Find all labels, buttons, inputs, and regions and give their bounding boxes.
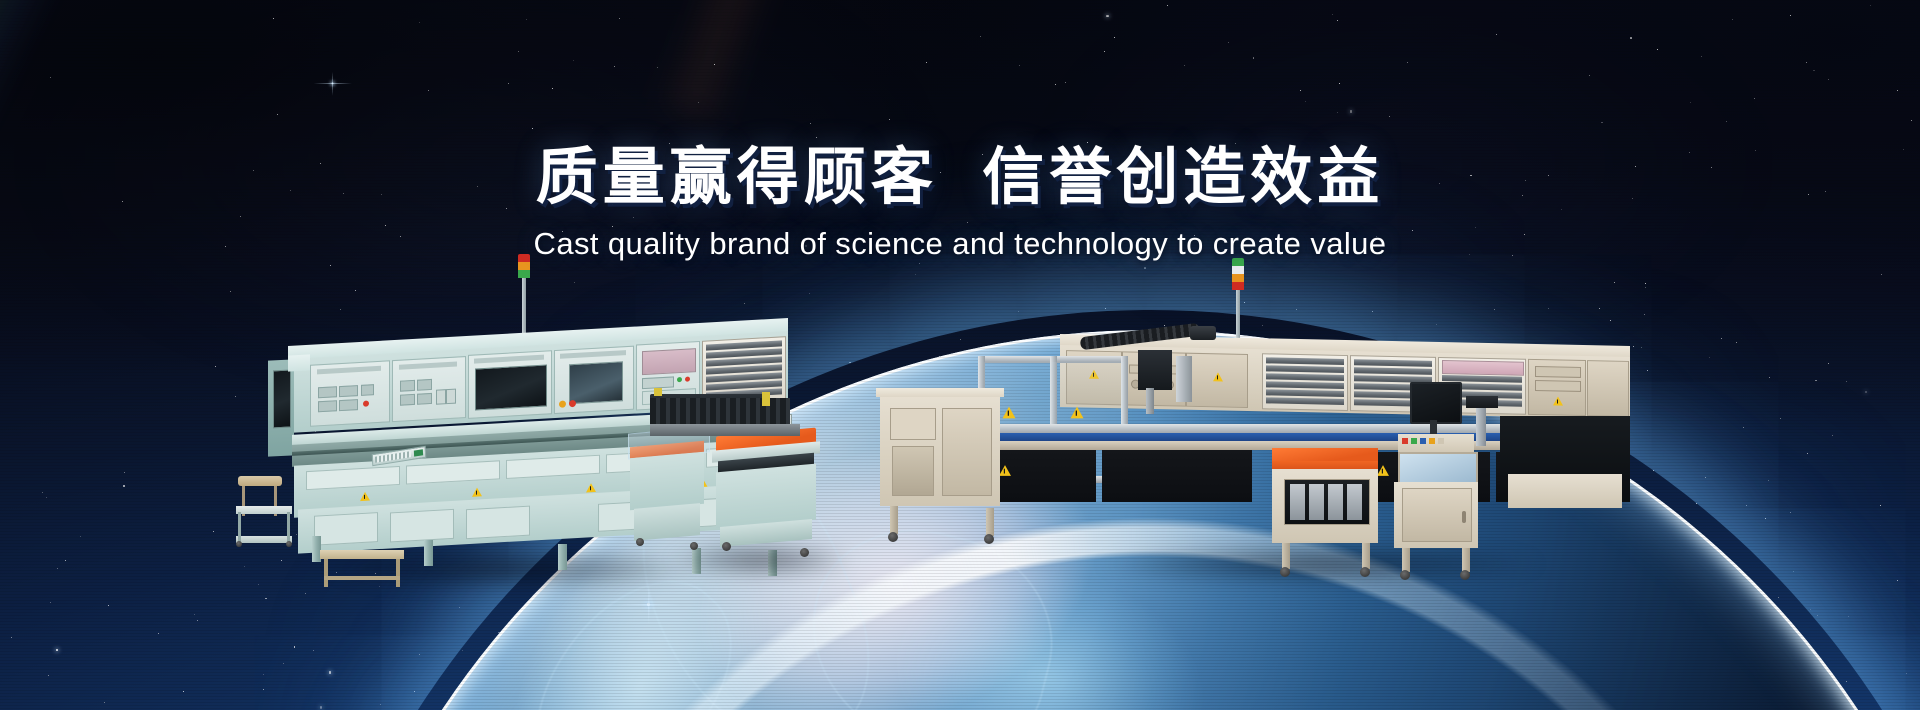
- front-cabinet-door[interactable]: [942, 408, 992, 496]
- rack-slot: [1266, 381, 1344, 389]
- star: [1881, 274, 1882, 275]
- left-display-bay-1: [468, 350, 552, 419]
- right-front-machine-body: [1272, 469, 1378, 543]
- star: [1865, 391, 1867, 393]
- star: [1647, 370, 1648, 371]
- star: [1832, 435, 1833, 436]
- output-cart-2-body: [716, 464, 816, 529]
- front-cabinet-drawer[interactable]: [892, 446, 934, 496]
- display-label-1: [474, 355, 544, 364]
- panel-button-c[interactable]: [361, 384, 374, 396]
- console-caster: [1400, 570, 1410, 580]
- output-cart-1-body: [630, 452, 704, 510]
- cart-caster: [690, 542, 698, 550]
- left-control-panel-1[interactable]: [310, 360, 390, 426]
- star: [108, 605, 109, 606]
- cart-leg: [238, 512, 241, 542]
- star: [1300, 90, 1301, 91]
- machine-leg: [1362, 543, 1370, 569]
- front-cabinet-top: [876, 388, 1004, 397]
- star: [419, 22, 420, 23]
- star: [1813, 70, 1815, 72]
- hmi-led-blue-icon: [1420, 438, 1426, 444]
- star: [273, 18, 274, 19]
- rack-slot: [1354, 359, 1432, 367]
- panel-button-e[interactable]: [339, 399, 358, 411]
- star: [1897, 580, 1898, 581]
- star: [283, 663, 284, 664]
- banner-headline: 质量赢得顾客 信誉创造效益: [0, 146, 1920, 210]
- star: [926, 62, 927, 63]
- star: [1019, 65, 1020, 66]
- star: [1846, 381, 1847, 382]
- cabinet-caster: [984, 534, 994, 544]
- panel-button-b[interactable]: [339, 385, 358, 397]
- panel-switch-b[interactable]: [446, 389, 456, 405]
- star: [1106, 15, 1108, 17]
- right-robot-head: [1466, 396, 1498, 408]
- star: [1780, 418, 1781, 419]
- right-instrument-screen: [1442, 360, 1524, 376]
- panel-button-h[interactable]: [400, 394, 415, 406]
- bench-leg: [396, 559, 400, 587]
- end-bay-readout: [1535, 366, 1581, 378]
- star: [1690, 102, 1691, 103]
- panel-switch-a[interactable]: [436, 389, 446, 405]
- hmi-led-red-icon: [1402, 438, 1408, 444]
- star: [48, 675, 49, 676]
- robot-actuator: [1176, 356, 1192, 402]
- star: [215, 366, 216, 367]
- cabinet-leg: [986, 508, 994, 536]
- panel-button-a[interactable]: [318, 386, 337, 398]
- panel-label-2: [399, 362, 457, 370]
- hmi-led-neutral-icon: [1438, 438, 1444, 444]
- transfer-base-rail: [650, 424, 800, 436]
- right-machine-shadow: [1040, 542, 1600, 586]
- star-flare-top-icon: [332, 83, 334, 85]
- star: [714, 64, 715, 65]
- star: [657, 67, 658, 68]
- star: [123, 485, 125, 487]
- star: [1337, 20, 1338, 21]
- star: [11, 637, 12, 638]
- star: [1870, 5, 1871, 6]
- emergency-stop-icon[interactable]: [363, 400, 369, 406]
- star: [919, 263, 920, 264]
- hmi-console-top: [1398, 434, 1474, 454]
- star: [213, 531, 214, 532]
- hazard-warning-icon: [999, 465, 1011, 476]
- star: [1790, 15, 1791, 16]
- machine-caster: [1280, 567, 1290, 577]
- star: [1828, 79, 1829, 80]
- star: [1880, 505, 1881, 506]
- star: [263, 674, 264, 675]
- left-base-door-3[interactable]: [466, 506, 530, 540]
- star: [980, 36, 981, 37]
- star: [1828, 363, 1829, 364]
- console-caster: [1460, 570, 1470, 580]
- star: [1765, 518, 1767, 520]
- right-signal-tower-red-icon: [1232, 282, 1244, 290]
- cart-caster: [286, 541, 292, 547]
- cart-caster: [236, 541, 242, 547]
- monitor-stand: [1430, 420, 1437, 434]
- rack-slot: [1266, 373, 1344, 381]
- keyboard-indicator-icon: [414, 449, 423, 456]
- right-under-bay-2: [1102, 450, 1252, 502]
- star: [1746, 505, 1747, 506]
- console-leg: [1402, 548, 1410, 572]
- bench-leg: [324, 559, 328, 587]
- star: [1790, 512, 1791, 513]
- star: [263, 689, 264, 690]
- panel-button-d[interactable]: [318, 400, 337, 412]
- star: [1184, 65, 1185, 66]
- bench-stretcher: [324, 576, 400, 580]
- rack-slot: [1266, 397, 1344, 405]
- star: [1630, 37, 1632, 39]
- right-end-bay: [1528, 359, 1586, 416]
- right-cabinet-door-2[interactable]: [1186, 353, 1248, 408]
- cable-chain-mount: [1190, 326, 1216, 340]
- star: [573, 60, 574, 61]
- star: [614, 66, 615, 67]
- star: [1228, 42, 1229, 43]
- star: [244, 566, 245, 567]
- star: [124, 472, 125, 473]
- star: [1657, 49, 1658, 50]
- right-operator-monitor[interactable]: [1410, 382, 1462, 424]
- star: [1144, 267, 1146, 269]
- left-end-display: [273, 369, 291, 428]
- hero-banner: 质量赢得顾客 信誉创造效益 Cast quality brand of scie…: [0, 0, 1920, 710]
- star: [1407, 62, 1408, 63]
- right-signal-tower-white-icon: [1232, 266, 1244, 274]
- magazine-slot: [1347, 484, 1362, 520]
- left-wooden-bench-top: [320, 550, 404, 559]
- star: [1114, 37, 1115, 38]
- cart-caster: [800, 548, 809, 557]
- star: [265, 598, 267, 600]
- star: [1701, 56, 1702, 57]
- rack-slot: [1266, 389, 1344, 397]
- star: [1589, 75, 1590, 76]
- left-vent-panel-1: [306, 466, 400, 490]
- right-signal-tower-pole: [1236, 290, 1240, 344]
- star: [1736, 342, 1737, 343]
- star: [1743, 427, 1744, 428]
- left-instrument-screen: [642, 348, 696, 375]
- star: [1065, 82, 1066, 83]
- star: [809, 293, 810, 294]
- left-vent-panel-2: [406, 460, 500, 484]
- magazine-slot: [1328, 484, 1343, 520]
- transfer-marker-icon: [654, 388, 662, 396]
- robot-nozzle: [1146, 388, 1154, 414]
- hazard-warning-icon: [1553, 396, 1563, 405]
- left-cart-shelf-top: [236, 506, 292, 514]
- star: [194, 614, 195, 615]
- right-signal-tower-orange-icon: [1232, 274, 1244, 282]
- star: [57, 568, 58, 569]
- star: [1339, 83, 1340, 84]
- left-display-bay-2: [554, 346, 634, 414]
- star: [1601, 122, 1603, 124]
- hazard-warning-icon: [1213, 372, 1223, 381]
- right-front-cabinet-left: [880, 396, 1000, 506]
- hazard-warning-icon: [360, 492, 370, 502]
- left-signal-tower-green-icon: [518, 270, 530, 278]
- star: [1768, 480, 1769, 481]
- right-rack-1: [1262, 353, 1348, 411]
- star: [294, 646, 296, 648]
- hmi-console-body: [1394, 482, 1478, 548]
- star: [1350, 110, 1352, 112]
- star: [158, 633, 159, 634]
- star: [1332, 14, 1333, 15]
- star: [1726, 121, 1727, 122]
- star: [619, 18, 620, 19]
- star: [1644, 314, 1645, 315]
- star: [1815, 380, 1817, 382]
- star: [104, 702, 105, 703]
- star: [1633, 346, 1634, 347]
- star: [1389, 116, 1390, 117]
- machine-caster: [1360, 567, 1370, 577]
- star: [330, 265, 331, 266]
- star: [355, 290, 356, 291]
- hmi-led-green-icon: [1411, 438, 1417, 444]
- cabinet-leg: [890, 506, 898, 534]
- left-base-door-1[interactable]: [314, 512, 378, 546]
- star-flare-left-icon: [647, 603, 650, 606]
- panel-button-f[interactable]: [400, 380, 415, 392]
- hazard-warning-icon: [472, 487, 482, 497]
- left-signal-tower-orange-icon: [518, 262, 530, 270]
- star: [230, 291, 231, 292]
- robot-dispenser-head: [1138, 350, 1172, 390]
- star: [235, 396, 236, 397]
- star: [1641, 347, 1642, 348]
- star: [50, 602, 51, 603]
- star: [1754, 98, 1755, 99]
- left-side-table-top: [238, 476, 282, 486]
- cart-caster: [636, 538, 644, 546]
- star: [1253, 57, 1255, 59]
- star: [197, 620, 198, 621]
- star: [518, 51, 519, 52]
- left-control-panel-2[interactable]: [392, 356, 466, 422]
- left-end-column: [268, 359, 294, 456]
- star: [1496, 34, 1497, 35]
- left-column-cap: [288, 354, 310, 371]
- output-station-shadow: [646, 542, 876, 578]
- star: [50, 77, 51, 78]
- star: [1337, 112, 1338, 113]
- star: [1769, 377, 1770, 378]
- star: [428, 90, 429, 91]
- star: [1055, 84, 1056, 85]
- console-leg: [1462, 548, 1470, 572]
- hmi-console-door[interactable]: [1402, 488, 1472, 542]
- instrument-led-green-icon: [677, 377, 682, 382]
- star: [1104, 51, 1105, 52]
- star: [532, 128, 533, 129]
- star: [380, 704, 381, 705]
- star: [1721, 338, 1722, 339]
- rack-slot: [1266, 357, 1344, 365]
- left-hmi-touchscreen[interactable]: [569, 361, 623, 404]
- magazine-slot: [1309, 484, 1324, 520]
- star: [1645, 283, 1646, 284]
- status-led-amber-icon: [559, 400, 566, 407]
- star: [508, 83, 509, 84]
- star: [1614, 282, 1615, 283]
- star: [183, 691, 184, 692]
- star: [277, 114, 278, 115]
- instrument-led-red-icon: [685, 377, 690, 382]
- status-led-red-icon: [569, 400, 576, 407]
- machine-leg: [1282, 543, 1290, 569]
- star: [1305, 101, 1306, 102]
- hazard-warning-icon: [1071, 407, 1084, 419]
- panel-button-i[interactable]: [417, 393, 432, 405]
- cart-caster: [722, 542, 731, 551]
- left-machine-leg: [558, 544, 567, 570]
- display-label-2: [560, 350, 626, 359]
- star: [1732, 19, 1733, 20]
- right-module-base: [1508, 474, 1622, 508]
- cabinet-caster: [888, 532, 898, 542]
- right-production-line: [1010, 296, 1630, 596]
- end-bay-readout: [1535, 380, 1581, 392]
- magazine-slot: [1290, 484, 1305, 520]
- left-base-door-2[interactable]: [390, 509, 454, 543]
- magazine-bay: [1284, 479, 1370, 525]
- star: [329, 671, 331, 673]
- star: [1645, 287, 1646, 288]
- right-orange-tray: [1272, 448, 1378, 462]
- star: [526, 19, 527, 20]
- star: [1911, 120, 1912, 121]
- banner-text-block: 质量赢得顾客 信誉创造效益 Cast quality brand of scie…: [0, 146, 1920, 262]
- left-vent-panel-3: [506, 455, 600, 479]
- star: [1806, 62, 1807, 63]
- star: [1807, 453, 1808, 454]
- hazard-warning-icon: [1003, 407, 1016, 419]
- rack-slot: [1266, 365, 1344, 373]
- star: [1906, 673, 1907, 674]
- star: [810, 123, 811, 124]
- star: [1709, 357, 1710, 358]
- star: [1167, 5, 1168, 6]
- star: [80, 536, 81, 537]
- output-cart-1-base: [634, 503, 700, 541]
- star: [56, 649, 58, 651]
- star: [258, 584, 259, 585]
- star: [1897, 90, 1898, 91]
- transfer-marker-icon: [762, 392, 770, 406]
- panel-button-g[interactable]: [417, 379, 432, 391]
- rack-slot: [1354, 367, 1432, 375]
- hazard-warning-icon: [1377, 465, 1389, 476]
- left-signal-tower-pole: [522, 278, 526, 340]
- star: [889, 119, 890, 120]
- star: [46, 497, 47, 498]
- left-machine-leg: [424, 540, 433, 566]
- star: [65, 560, 66, 561]
- star: [552, 88, 553, 89]
- star: [915, 274, 916, 275]
- left-monitor-1[interactable]: [475, 364, 547, 410]
- panel-label-1: [317, 366, 381, 375]
- star: [320, 706, 322, 708]
- front-cabinet-vent: [890, 408, 936, 440]
- right-hmi-touchscreen[interactable]: [1398, 452, 1478, 486]
- door-handle-icon[interactable]: [1462, 511, 1466, 523]
- hazard-warning-icon: [586, 483, 596, 493]
- hmi-led-amber-icon: [1429, 438, 1435, 444]
- cart-leg: [287, 512, 290, 542]
- right-end-door[interactable]: [1587, 360, 1629, 417]
- star: [816, 137, 817, 138]
- star: [698, 102, 699, 103]
- left-transfer-mechanism: [650, 398, 810, 458]
- left-cart-shelf-bottom: [236, 536, 292, 543]
- star: [574, 282, 575, 283]
- banner-subheadline: Cast quality brand of science and techno…: [0, 226, 1920, 262]
- star: [42, 492, 43, 493]
- star: [313, 650, 314, 651]
